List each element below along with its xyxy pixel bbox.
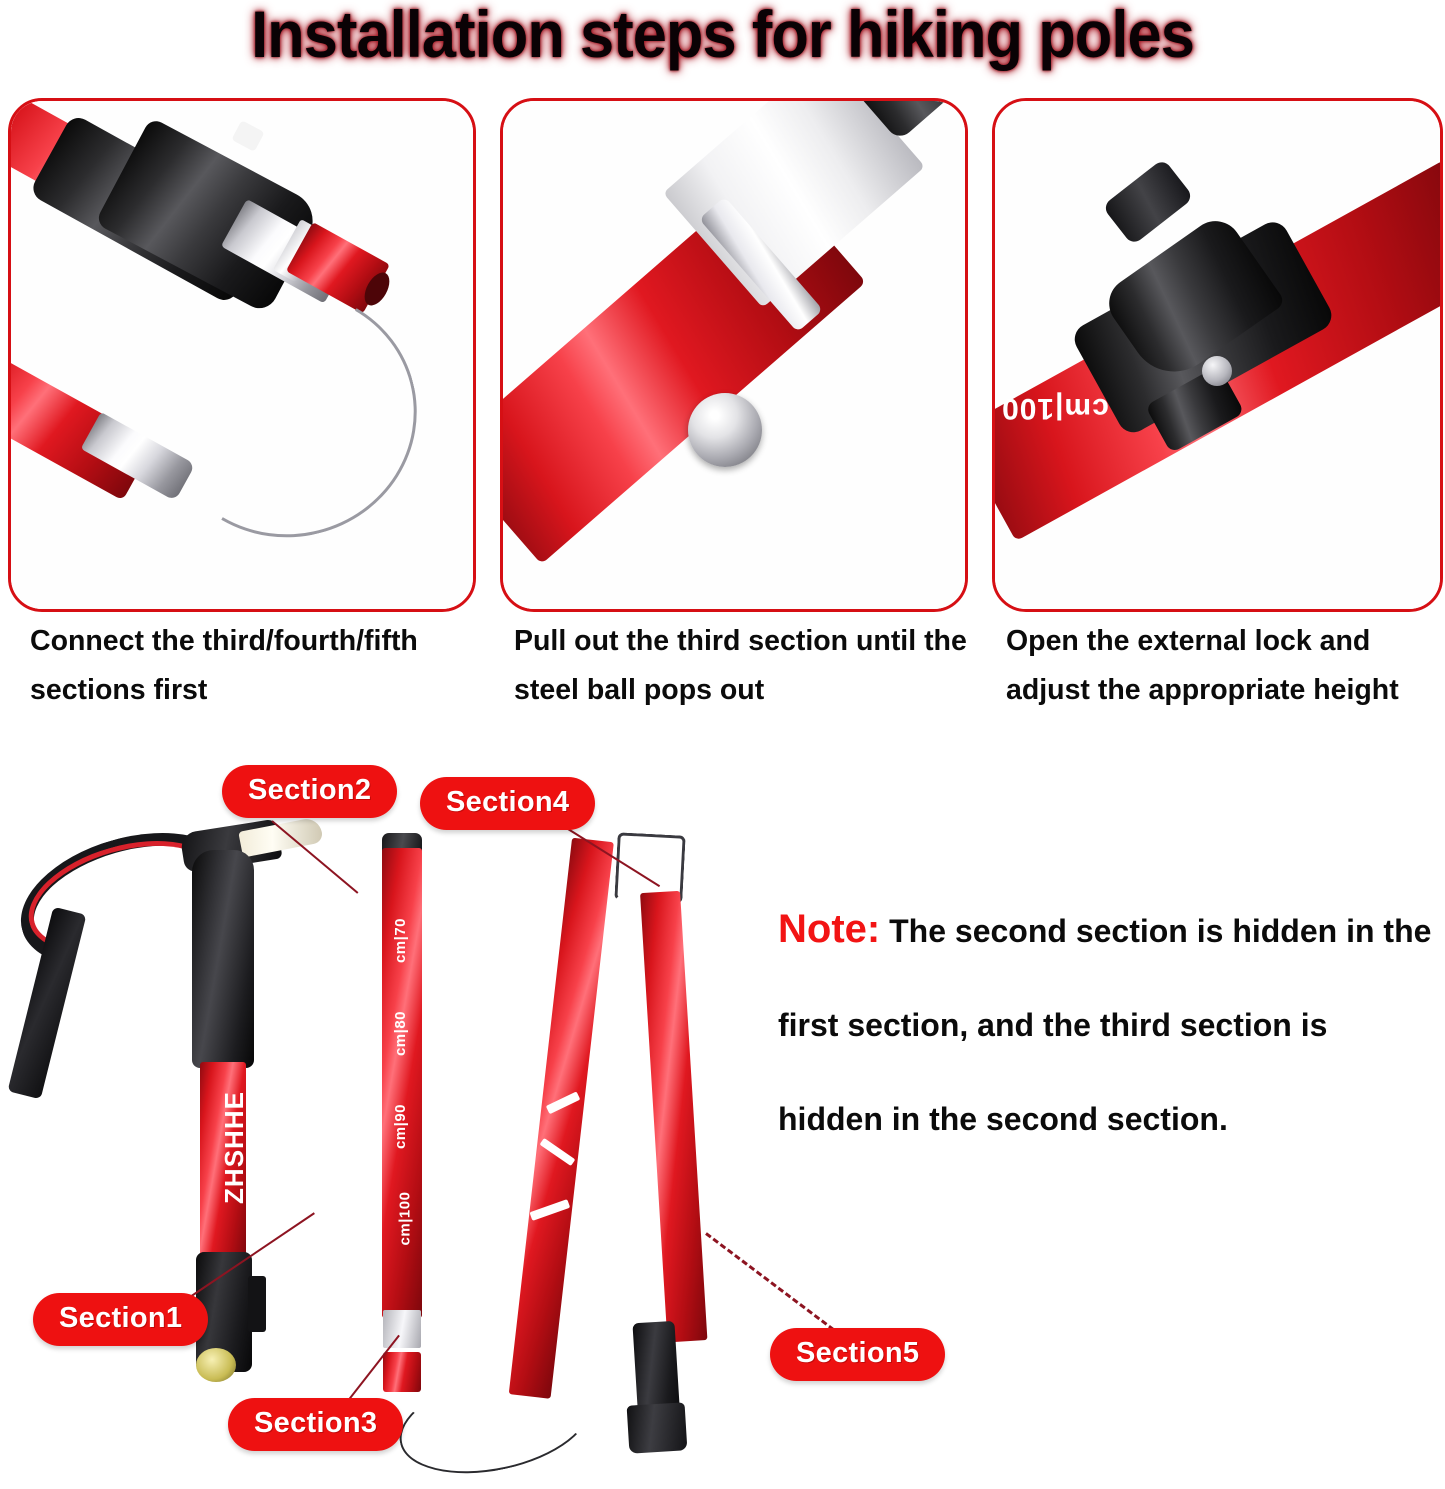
- section3-stub: [383, 1352, 421, 1392]
- steel-ball: [688, 393, 762, 467]
- section1-bolt: [196, 1348, 236, 1382]
- section-label-section4[interactable]: Section4: [420, 777, 595, 830]
- lever-tab: [231, 120, 264, 152]
- lock-cam-face: [1102, 158, 1194, 245]
- step-2-caption: Pull out the third section until the ste…: [514, 617, 984, 715]
- step-photo-panel-2: [500, 98, 968, 612]
- step-1-photo: [11, 101, 473, 609]
- connecting-wire: [390, 1357, 599, 1489]
- note-block: Note: The second section is hidden in th…: [778, 882, 1438, 1166]
- step-photo-panel-1: [8, 98, 476, 612]
- step-3-caption: Open the external lock and adjust the ap…: [1006, 617, 1445, 715]
- step-1-caption: Connect the third/fourth/fifth sections …: [30, 617, 490, 715]
- shaft-mark-2: cm|80: [392, 1011, 409, 1056]
- graphic-stripe-1: [546, 1091, 581, 1114]
- section4-shaft: [509, 838, 614, 1399]
- note-label: Note:: [778, 907, 880, 951]
- pole-grip: [192, 850, 254, 1068]
- section-label-section5[interactable]: Section5: [770, 1328, 945, 1381]
- section3-ferrule: [383, 1310, 421, 1348]
- graphic-stripe-3: [529, 1199, 570, 1221]
- section-label-section1[interactable]: Section1: [33, 1293, 208, 1346]
- shaft-mark-3: cm|90: [392, 1104, 409, 1149]
- step-2-photo: [503, 101, 965, 609]
- shaft-mark-4: cm|100: [396, 1192, 413, 1246]
- exploded-pole-diagram: ZHSHHE cm|70 cm|80 cm|90 cm|100: [0, 740, 780, 1458]
- section-label-section3[interactable]: Section3: [228, 1398, 403, 1451]
- steel-cable: [135, 264, 443, 565]
- section-label-section2[interactable]: Section2: [222, 765, 397, 818]
- section1-lock-tab: [248, 1276, 266, 1332]
- page-title: Installation steps for hiking poles: [51, 0, 1395, 72]
- graphic-stripe-2: [540, 1138, 576, 1166]
- step-3-photo: cm|100: [995, 101, 1440, 609]
- wrist-strap-tail: [8, 907, 87, 1100]
- step-photo-panel-3: cm|100: [992, 98, 1443, 612]
- shaft-marking-label: cm|100: [1001, 391, 1109, 425]
- rubber-foot: [627, 1402, 688, 1453]
- lock-screw: [1202, 356, 1232, 386]
- brand-text: ZHSHHE: [219, 1091, 250, 1204]
- section5-shaft: [640, 891, 707, 1343]
- shaft-mark-1: cm|70: [392, 918, 409, 963]
